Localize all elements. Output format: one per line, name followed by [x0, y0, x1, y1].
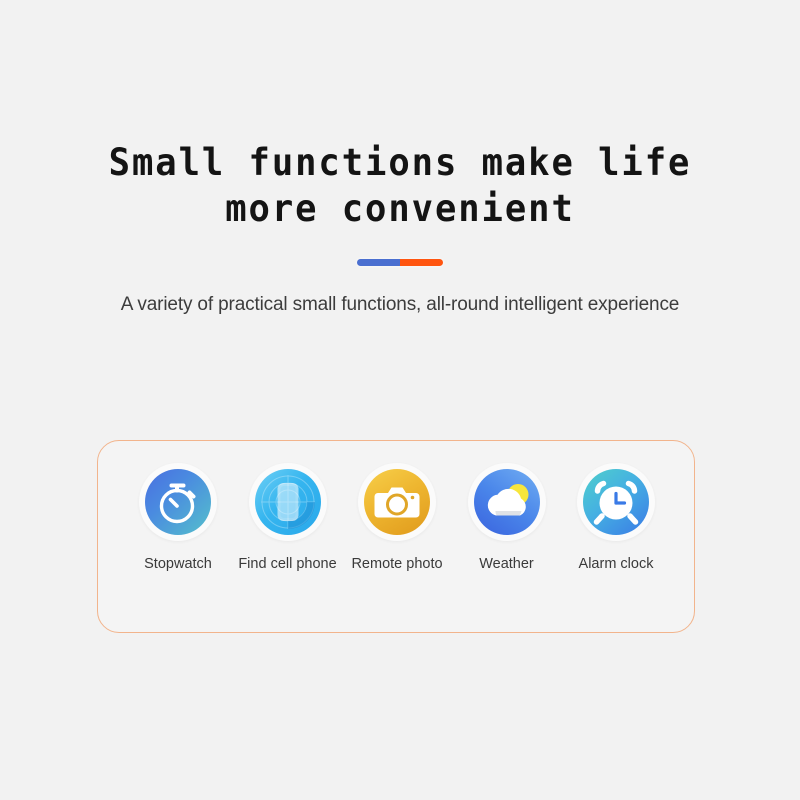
stopwatch-icon — [145, 469, 211, 535]
feature-label: Alarm clock — [579, 555, 654, 573]
feature-label: Weather — [479, 555, 534, 573]
features-card: Stopwatch — [97, 440, 695, 633]
page-root: Small functions make life more convenien… — [0, 0, 800, 800]
divider-segment-orange — [400, 259, 443, 266]
camera-icon — [364, 469, 430, 535]
feature-label: Stopwatch — [144, 555, 212, 573]
weather-cloud-sun-icon — [474, 469, 540, 535]
icon-halo — [468, 463, 546, 541]
icon-halo — [358, 463, 436, 541]
feature-item-stopwatch[interactable]: Stopwatch — [126, 463, 230, 613]
page-title: Small functions make life more convenien… — [16, 140, 784, 232]
feature-item-find-cell-phone[interactable]: Find cell phone — [236, 463, 340, 613]
icon-halo — [139, 463, 217, 541]
icon-halo — [577, 463, 655, 541]
feature-label: Remote photo — [351, 555, 442, 573]
feature-item-alarm-clock[interactable]: Alarm clock — [564, 463, 668, 613]
feature-item-weather[interactable]: Weather — [455, 463, 559, 613]
title-divider — [357, 259, 443, 266]
features-list: Stopwatch — [98, 463, 696, 613]
feature-item-remote-photo[interactable]: Remote photo — [345, 463, 449, 613]
page-subtitle: A variety of practical small functions, … — [0, 292, 800, 318]
divider-segment-blue — [357, 259, 400, 266]
find-phone-icon — [255, 469, 321, 535]
feature-label: Find cell phone — [238, 555, 336, 573]
icon-halo — [249, 463, 327, 541]
alarm-clock-icon — [583, 469, 649, 535]
